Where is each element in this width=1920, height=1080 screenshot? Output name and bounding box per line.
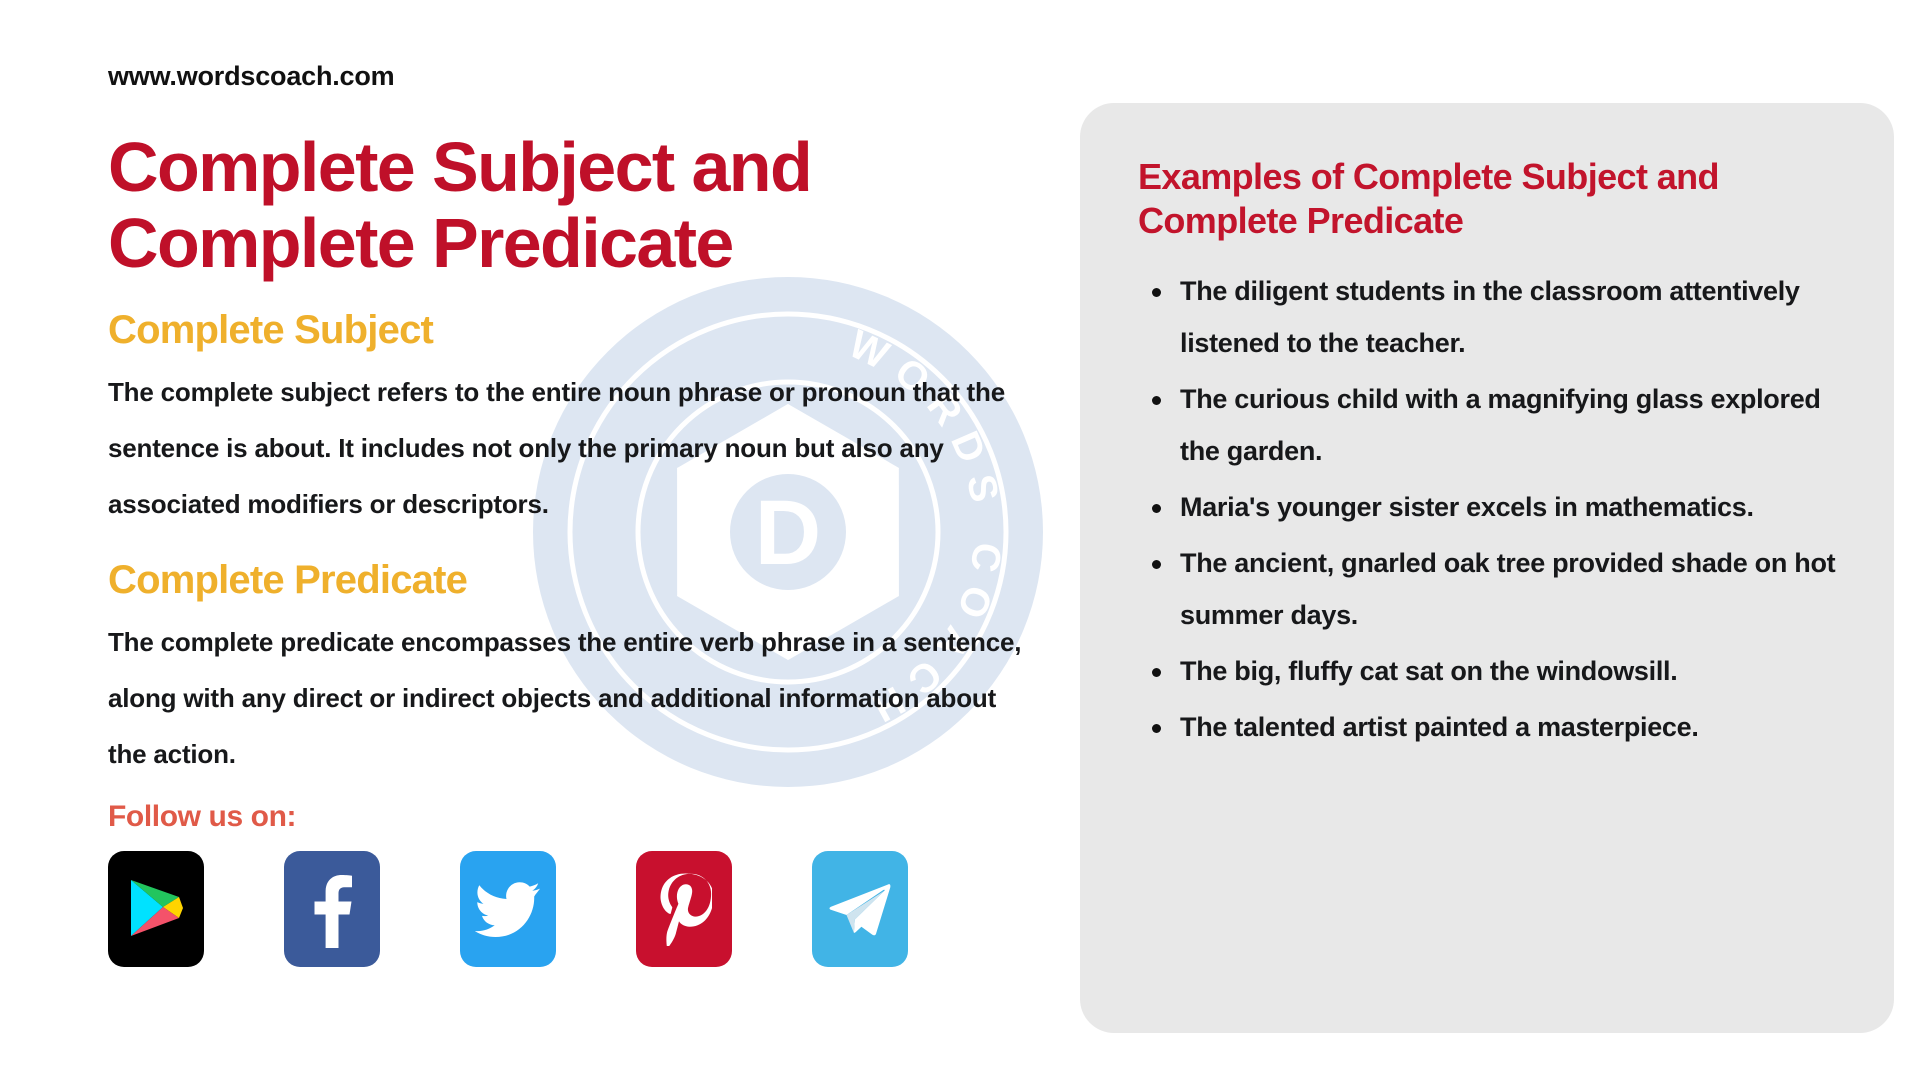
section-body-complete-predicate: The complete predicate encompasses the e… bbox=[108, 614, 1038, 782]
examples-panel: Examples of Complete Subject and Complet… bbox=[1080, 103, 1894, 1033]
left-content-column: www.wordscoach.com Complete Subject and … bbox=[108, 60, 1038, 967]
social-links-row bbox=[108, 851, 1038, 967]
telegram-icon[interactable] bbox=[812, 851, 908, 967]
follow-us-label: Follow us on: bbox=[108, 800, 1038, 833]
list-item: The diligent students in the classroom a… bbox=[1138, 265, 1850, 369]
pinterest-icon[interactable] bbox=[636, 851, 732, 967]
page-title: Complete Subject and Complete Predicate bbox=[108, 130, 928, 281]
examples-list: The diligent students in the classroom a… bbox=[1138, 265, 1850, 753]
examples-panel-title: Examples of Complete Subject and Complet… bbox=[1138, 155, 1838, 243]
site-url: www.wordscoach.com bbox=[108, 60, 1038, 92]
list-item: The big, fluffy cat sat on the windowsil… bbox=[1138, 645, 1850, 697]
section-body-complete-subject: The complete subject refers to the entir… bbox=[108, 364, 1038, 532]
list-item: Maria's younger sister excels in mathema… bbox=[1138, 481, 1850, 533]
google-play-icon[interactable] bbox=[108, 851, 204, 967]
list-item: The curious child with a magnifying glas… bbox=[1138, 373, 1850, 477]
list-item: The ancient, gnarled oak tree provided s… bbox=[1138, 537, 1850, 641]
twitter-icon[interactable] bbox=[460, 851, 556, 967]
list-item: The talented artist painted a masterpiec… bbox=[1138, 701, 1850, 753]
section-heading-complete-predicate: Complete Predicate bbox=[108, 558, 1038, 602]
facebook-icon[interactable] bbox=[284, 851, 380, 967]
poster-canvas: WORDS COACH D www.wordscoach.com Complet… bbox=[0, 0, 1920, 1080]
section-heading-complete-subject: Complete Subject bbox=[108, 308, 1038, 352]
